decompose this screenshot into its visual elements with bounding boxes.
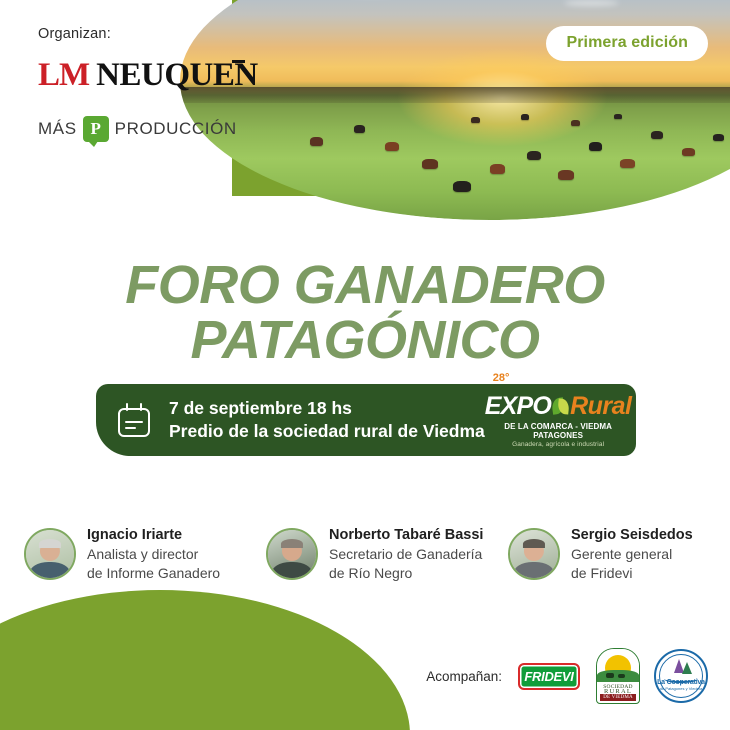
- title-line-1: FORO GANADERO: [0, 258, 730, 313]
- expo-subtitle-1: DE LA COMARCA - VIEDMA PATAGONES: [485, 422, 632, 440]
- poster: Primera edición Organizan: LM NEUQUEN MÁ…: [0, 0, 730, 730]
- treeline: [180, 87, 730, 104]
- sponsor-logo-la-cooperativa: La Cooperativa de Patagones y Viedma: [654, 649, 708, 703]
- speaker-role-line-1: Analista y director: [87, 545, 220, 564]
- organizers-label: Organizan:: [38, 26, 258, 42]
- produccion-label: PRODUCCIÓN: [115, 119, 237, 139]
- expo-rural-logo: 28° EXPO Rural DE LA COMARCA - VIEDMA PA…: [485, 392, 632, 448]
- avatar: [24, 528, 76, 580]
- macron-accent: [232, 60, 245, 63]
- cow-icon: [618, 674, 625, 678]
- mas-produccion-logo: MÁS P PRODUCCIÓN: [38, 116, 258, 142]
- sponsor-logo-sociedad-rural: SOCIEDAD RURAL DE VIEDMA: [596, 648, 640, 704]
- leaf-icon: [551, 397, 566, 416]
- cooperativa-subtitle: de Patagones y Viedma: [656, 686, 706, 691]
- lm-neuquen-logo: LM NEUQUEN: [38, 57, 258, 94]
- speech-bubble-icon: P: [83, 116, 109, 142]
- event-info-bar: 7 de septiembre 18 hs Predio de la socie…: [96, 384, 636, 456]
- rural-word: Rural: [570, 392, 631, 421]
- speaker-card: Ignacio Iriarte Analista y director de I…: [24, 524, 256, 583]
- sponsor-logo-fridevi: FRIDEVI: [518, 663, 580, 690]
- event-datetime: 7 de septiembre 18 hs: [169, 397, 485, 420]
- de-viedma-word: DE VIEDMA: [600, 694, 636, 701]
- event-details: 7 de septiembre 18 hs Predio de la socie…: [169, 397, 485, 444]
- speaker-role-line-2: de Río Negro: [329, 564, 483, 583]
- sponsors-label: Acompañan:: [426, 669, 502, 684]
- lm-logo-black: NEUQUEN: [96, 57, 258, 94]
- expo-edition-number: 28°: [493, 372, 510, 384]
- bubble-letter: P: [90, 119, 100, 139]
- speaker-role-line-2: de Informe Ganadero: [87, 564, 220, 583]
- avatar: [266, 528, 318, 580]
- speakers-list: Ignacio Iriarte Analista y director de I…: [24, 524, 720, 583]
- speaker-role-line-2: de Fridevi: [571, 564, 693, 583]
- speaker-role-line-1: Secretario de Ganadería: [329, 545, 483, 564]
- bottom-green-arc: [0, 590, 410, 730]
- event-venue: Predio de la sociedad rural de Viedma: [169, 420, 485, 443]
- sponsors-block: Acompañan: FRIDEVI SOCIEDAD RURAL DE VIE…: [426, 648, 708, 704]
- edition-badge: Primera edición: [546, 26, 708, 61]
- expo-word: EXPO: [485, 392, 551, 421]
- speaker-name: Norberto Tabaré Bassi: [329, 526, 483, 545]
- speaker-name: Ignacio Iriarte: [87, 526, 220, 545]
- speaker-card: Sergio Seisdedos Gerente general de Frid…: [508, 524, 720, 583]
- title-line-2: PATAGÓNICO: [0, 313, 730, 368]
- avatar: [508, 528, 560, 580]
- mas-label: MÁS: [38, 119, 77, 139]
- speaker-name: Sergio Seisdedos: [571, 526, 693, 545]
- tree-icon: [682, 662, 692, 674]
- expo-subtitle-2: Ganadera, agrícola e industrial: [485, 441, 632, 448]
- speaker-card: Norberto Tabaré Bassi Secretario de Gana…: [266, 524, 498, 583]
- calendar-icon: [118, 403, 152, 437]
- speaker-role-line-1: Gerente general: [571, 545, 693, 564]
- cow-icon: [606, 673, 614, 678]
- organizers-block: Organizan: LM NEUQUEN MÁS P PRODUCCIÓN: [38, 26, 258, 142]
- page-title: FORO GANADERO PATAGÓNICO: [0, 258, 730, 368]
- cooperativa-word: La Cooperativa: [656, 679, 706, 686]
- fridevi-wordmark: FRIDEVI: [524, 669, 573, 684]
- lm-logo-red: LM: [38, 57, 89, 94]
